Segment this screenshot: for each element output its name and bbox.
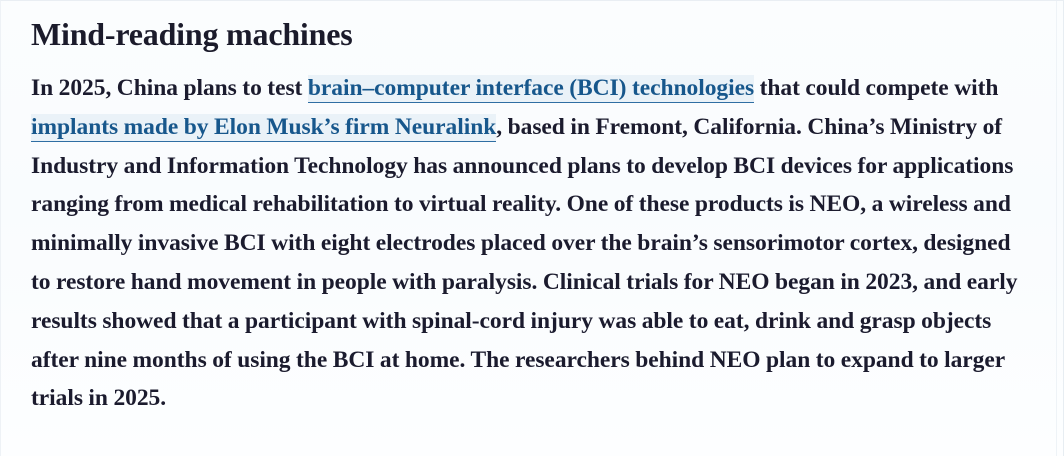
link-neuralink-implants[interactable]: implants made by Elon Musk’s firm Neural… <box>31 114 496 142</box>
body-text-run: In 2025, China plans to test <box>31 75 308 101</box>
article-body-text: In 2025, China plans to test brain–compu… <box>31 69 1031 418</box>
page-title: Mind-reading machines <box>31 15 352 53</box>
body-text-run: , based in Fremont, California. China’s … <box>31 114 1017 412</box>
body-text-run: that could compete with <box>754 75 998 101</box>
link-bci-technologies[interactable]: brain–computer interface (BCI) technolog… <box>308 75 754 103</box>
article-card: Mind-reading machines In 2025, China pla… <box>0 0 1064 456</box>
